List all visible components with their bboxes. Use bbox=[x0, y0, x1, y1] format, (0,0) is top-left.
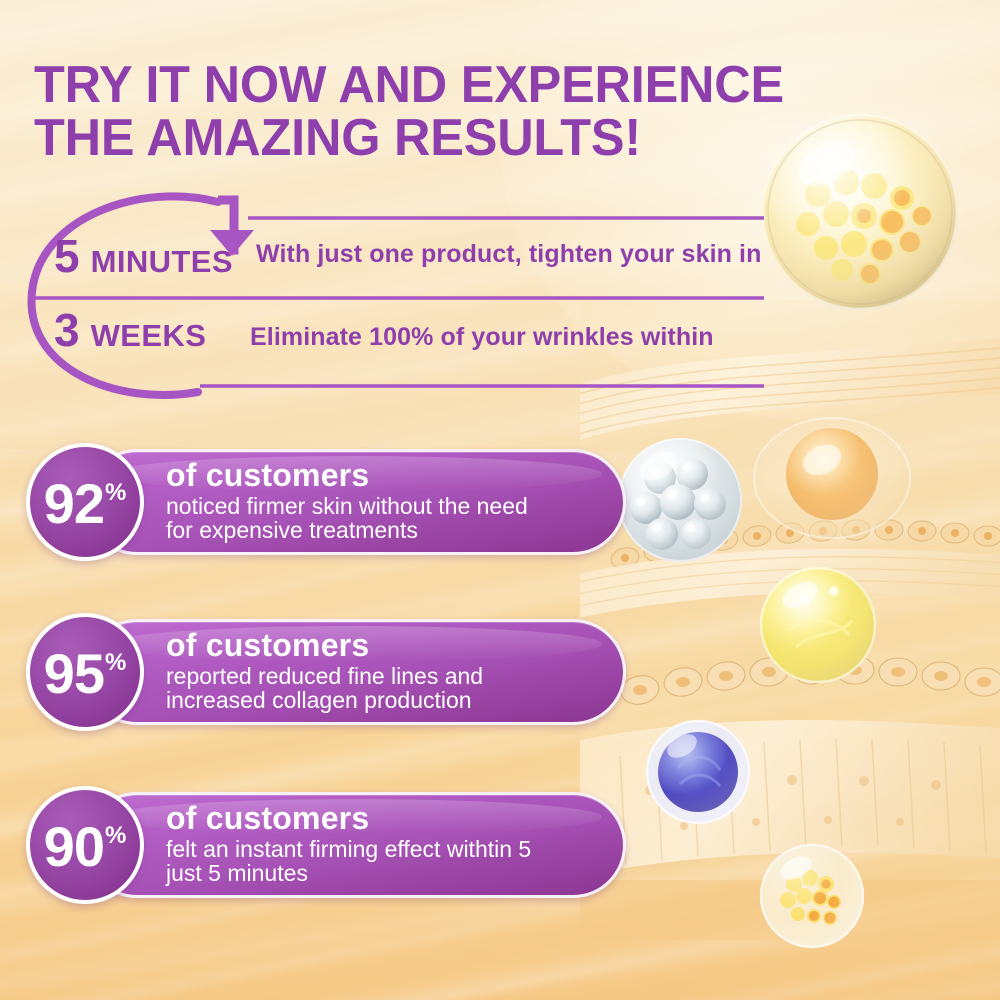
stat-subtitle-line-2: increased collagen production bbox=[166, 688, 616, 713]
stat-percent-sign: % bbox=[105, 651, 126, 675]
blue-serum-capsule-icon bbox=[646, 720, 750, 824]
stat-subtitle-line-1: noticed firmer skin without the need bbox=[166, 494, 616, 519]
cell-row-1 bbox=[609, 519, 1000, 571]
stat-percent-sign: % bbox=[105, 481, 126, 505]
stat-percent-value: 95 bbox=[44, 646, 104, 702]
pearl-cluster-capsule-icon bbox=[618, 438, 742, 562]
timing-row-weeks: 3 WEEKS bbox=[54, 307, 206, 353]
timing-row-minutes: 5 MINUTES bbox=[54, 233, 233, 279]
stat-text: of customers noticed firmer skin without… bbox=[166, 459, 616, 543]
stat-percent-badge: 95 % bbox=[26, 613, 144, 731]
small-honeycomb-capsule-icon bbox=[760, 844, 864, 948]
timing-unit-minutes: MINUTES bbox=[91, 246, 233, 277]
timing-number-weeks: 3 bbox=[54, 307, 80, 353]
stat-row: 90 % of customers felt an instant firmin… bbox=[26, 786, 626, 904]
stat-subtitle-line-1: reported reduced fine lines and bbox=[166, 664, 616, 689]
cell-row-2 bbox=[619, 655, 1000, 708]
stat-subtitle-line-2: just 5 minutes bbox=[166, 861, 616, 886]
timing-cycle-block: 5 MINUTES 3 WEEKS With just one product,… bbox=[22, 180, 782, 410]
stat-subtitle: reported reduced fine lines and increase… bbox=[166, 664, 616, 714]
stat-row: 95 % of customers reported reduced fine … bbox=[26, 613, 626, 731]
infographic-poster: TRY IT NOW AND EXPERIENCE THE AMAZING RE… bbox=[0, 0, 1000, 1000]
stat-title: of customers bbox=[166, 802, 616, 835]
amber-capsule-icon bbox=[754, 418, 910, 538]
timing-unit-weeks: WEEKS bbox=[91, 320, 207, 351]
timing-caption-minutes: With just one product, tighten your skin… bbox=[256, 242, 761, 267]
stat-title: of customers bbox=[166, 459, 616, 492]
page-title: TRY IT NOW AND EXPERIENCE THE AMAZING RE… bbox=[34, 59, 868, 165]
stat-percent-wrap: 90 % bbox=[44, 819, 127, 875]
stat-percent-wrap: 92 % bbox=[44, 476, 127, 532]
headline-line-1: TRY IT NOW AND EXPERIENCE bbox=[34, 59, 868, 112]
headline-line-2: THE AMAZING RESULTS! bbox=[34, 112, 868, 165]
stat-row: 92 % of customers noticed firmer skin wi… bbox=[26, 443, 626, 561]
stat-text: of customers felt an instant firming eff… bbox=[166, 802, 616, 886]
timing-number-minutes: 5 bbox=[54, 233, 80, 279]
timing-caption-weeks: Eliminate 100% of your wrinkles within bbox=[250, 325, 714, 350]
stat-percent-badge: 92 % bbox=[26, 443, 144, 561]
stat-subtitle-line-2: for expensive treatments bbox=[166, 518, 616, 543]
stat-percent-sign: % bbox=[105, 824, 126, 848]
stat-percent-value: 90 bbox=[44, 819, 104, 875]
stat-title: of customers bbox=[166, 629, 616, 662]
stat-percent-value: 92 bbox=[44, 476, 104, 532]
stat-percent-wrap: 95 % bbox=[44, 646, 127, 702]
stat-text: of customers reported reduced fine lines… bbox=[166, 629, 616, 713]
cycle-arrow-graphic bbox=[22, 180, 782, 410]
yellow-serum-capsule-icon bbox=[760, 567, 876, 683]
stat-subtitle: felt an instant firming effect withtin 5… bbox=[166, 837, 616, 887]
stat-percent-badge: 90 % bbox=[26, 786, 144, 904]
stat-subtitle: noticed firmer skin without the need for… bbox=[166, 494, 616, 544]
stat-subtitle-line-1: felt an instant firming effect withtin 5 bbox=[166, 837, 616, 862]
